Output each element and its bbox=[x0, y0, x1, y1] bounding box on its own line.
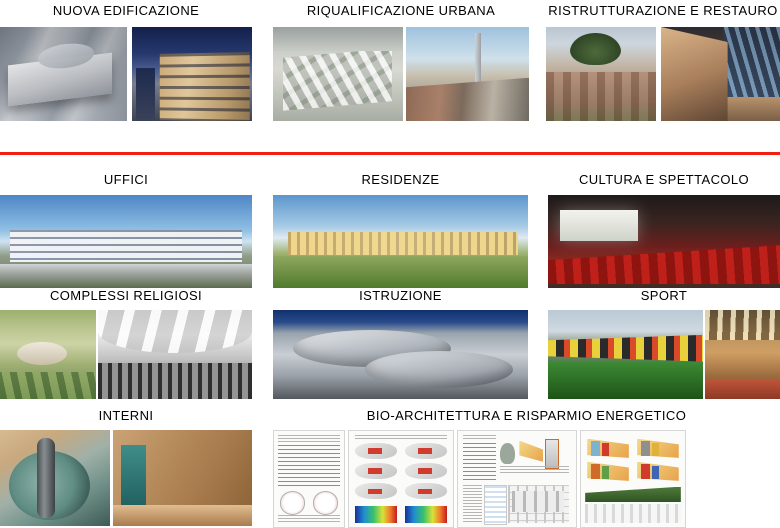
image-urban-masterplan-aerial[interactable] bbox=[273, 27, 403, 121]
image-row bbox=[273, 310, 528, 399]
image-presentation-board-sections[interactable] bbox=[457, 430, 577, 528]
image-school-model-aerial[interactable] bbox=[273, 310, 528, 399]
category-title: NUOVA EDIFICAZIONE bbox=[0, 3, 252, 18]
image-aerial-industrial-complex[interactable] bbox=[0, 27, 127, 121]
image-wood-panelled-room[interactable] bbox=[113, 430, 252, 526]
image-stadium-grandstand[interactable] bbox=[548, 310, 703, 399]
image-urban-street-render[interactable] bbox=[406, 27, 529, 121]
category-title: SPORT bbox=[548, 288, 780, 303]
image-row bbox=[0, 27, 252, 121]
image-residential-piazza[interactable] bbox=[273, 195, 528, 288]
category-ristrutturazione-e-restauro[interactable]: RISTRUTTURAZIONE E RESTAURO bbox=[546, 3, 780, 121]
image-row bbox=[0, 310, 252, 399]
image-row bbox=[546, 27, 780, 121]
image-row bbox=[0, 195, 252, 288]
gallery-page: NUOVA EDIFICAZIONE RIQUALIFICAZIONE URBA… bbox=[0, 0, 780, 518]
category-title: UFFICI bbox=[0, 172, 252, 187]
image-modern-office-building-dusk[interactable] bbox=[132, 27, 252, 121]
category-title: CULTURA E SPETTACOLO bbox=[548, 172, 780, 187]
image-church-interior-bw[interactable] bbox=[98, 310, 252, 399]
category-sport[interactable]: SPORT bbox=[548, 288, 780, 399]
image-row bbox=[273, 195, 528, 288]
category-residenze[interactable]: RESIDENZE bbox=[273, 172, 528, 288]
image-auditorium-wood-interior[interactable] bbox=[661, 27, 780, 121]
section-divider bbox=[0, 152, 780, 155]
category-title: ISTRUZIONE bbox=[273, 288, 528, 303]
image-church-complex-aerial[interactable] bbox=[0, 310, 96, 399]
category-uffici[interactable]: UFFICI bbox=[0, 172, 252, 288]
image-row bbox=[273, 430, 780, 528]
category-title: RIQUALIFICAZIONE URBANA bbox=[273, 3, 529, 18]
category-title: RISTRUTTURAZIONE E RESTAURO bbox=[546, 3, 780, 18]
category-title: COMPLESSI RELIGIOSI bbox=[0, 288, 252, 303]
category-complessi-religiosi[interactable]: COMPLESSI RELIGIOSI bbox=[0, 288, 252, 399]
category-title: BIO-ARCHITETTURA E RISPARMIO ENERGETICO bbox=[273, 408, 780, 423]
image-row bbox=[548, 310, 780, 399]
image-presentation-board-diagrams[interactable] bbox=[580, 430, 686, 528]
image-sports-hall-interior[interactable] bbox=[705, 310, 780, 399]
image-presentation-board-cfd[interactable] bbox=[348, 430, 454, 528]
category-istruzione[interactable]: ISTRUZIONE bbox=[273, 288, 528, 399]
image-roman-ruins-pines[interactable] bbox=[546, 27, 656, 121]
category-riqualificazione-urbana[interactable]: RIQUALIFICAZIONE URBANA bbox=[273, 3, 529, 121]
image-spiral-staircase[interactable] bbox=[0, 430, 110, 526]
category-title: INTERNI bbox=[0, 408, 252, 423]
category-cultura-e-spettacolo[interactable]: CULTURA E SPETTACOLO bbox=[548, 172, 780, 288]
category-title: RESIDENZE bbox=[273, 172, 528, 187]
image-presentation-board-analysis[interactable] bbox=[273, 430, 345, 528]
category-nuova-edificazione[interactable]: NUOVA EDIFICAZIONE bbox=[0, 3, 252, 121]
image-cinema-red-interior[interactable] bbox=[548, 195, 780, 288]
image-long-office-block[interactable] bbox=[0, 195, 252, 288]
image-row bbox=[273, 27, 529, 121]
image-row bbox=[548, 195, 780, 288]
image-row bbox=[0, 430, 252, 526]
category-bio-architettura[interactable]: BIO-ARCHITETTURA E RISPARMIO ENERGETICO bbox=[273, 408, 780, 528]
category-interni[interactable]: INTERNI bbox=[0, 408, 252, 526]
